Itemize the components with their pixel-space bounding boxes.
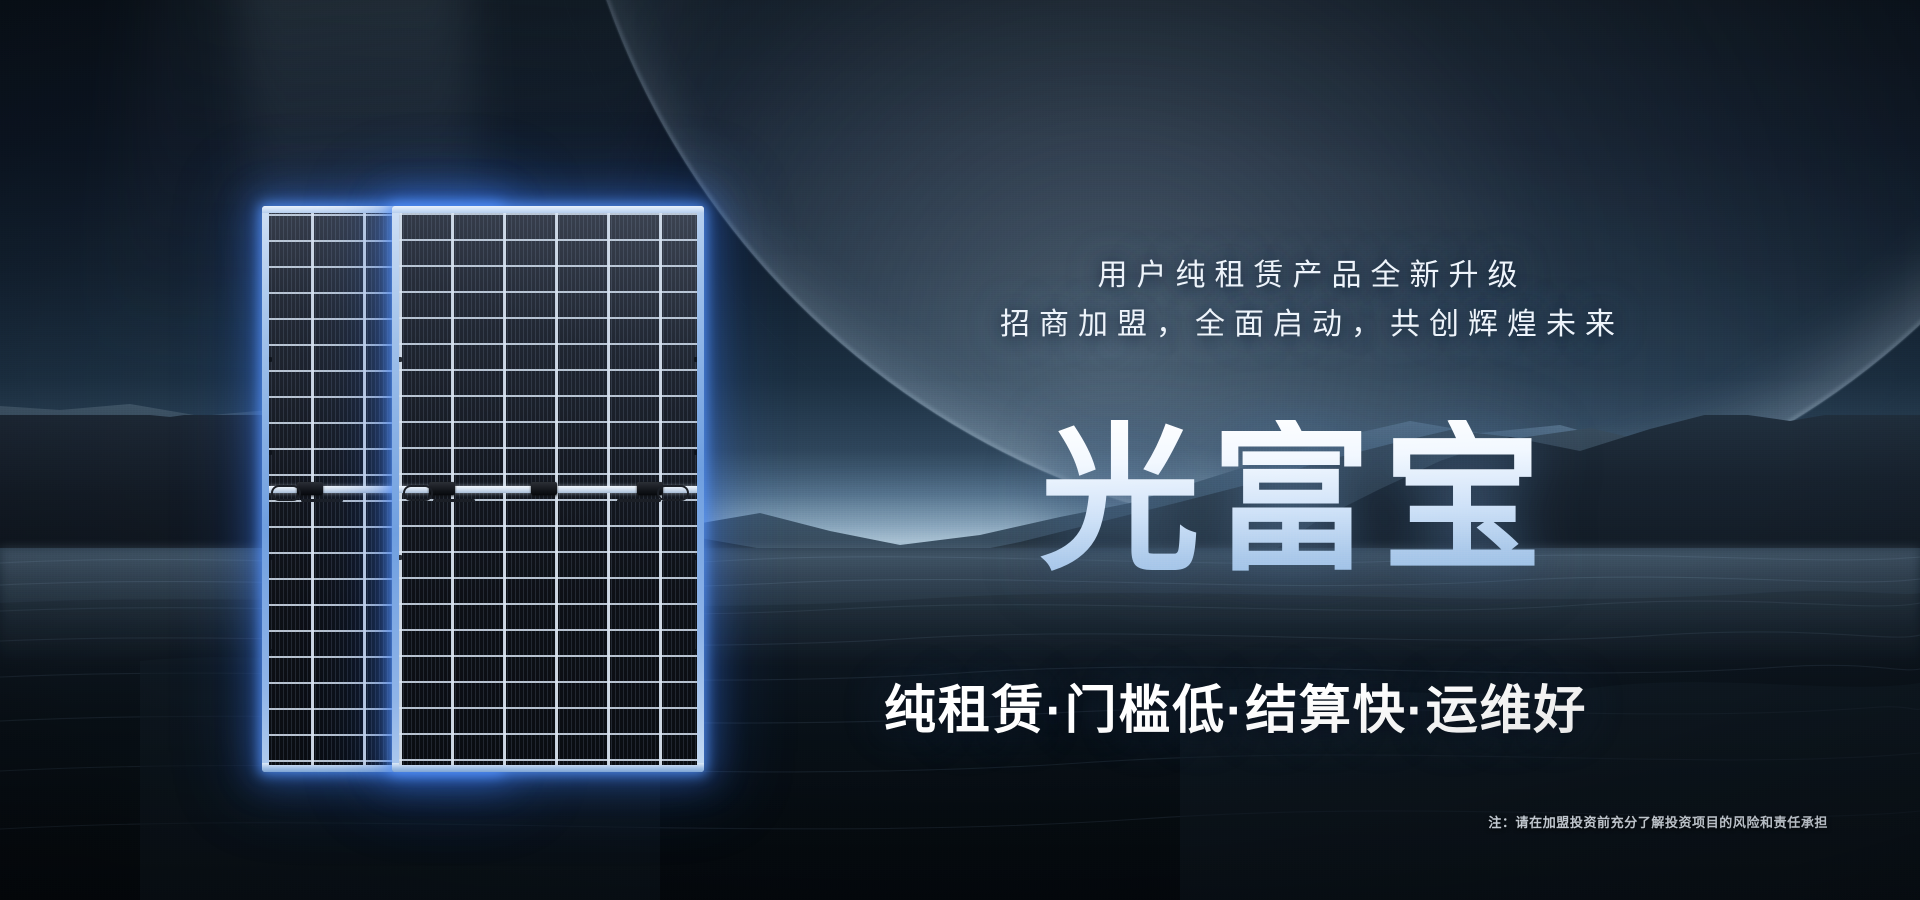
panel-cable-loop <box>403 485 433 501</box>
tagline: 纯租赁·门槛低·结算快·运维好 <box>884 668 1587 743</box>
solar-panel-right[interactable] <box>392 206 704 772</box>
promo-banner: 用户纯租赁产品全新升级 招商加盟，全面启动，共创辉煌未来 光富宝 纯租赁·门槛低… <box>0 0 1920 900</box>
frame-mount-clip <box>694 555 697 560</box>
frame-mount-clip <box>269 450 272 455</box>
panel-cable-loop <box>657 485 689 501</box>
frame-mount-clip <box>399 555 402 560</box>
panel-cable-loop <box>271 485 301 501</box>
frame-mount-clip <box>694 357 697 362</box>
headline-line-2: 招商加盟，全面启动，共创辉煌未来 <box>932 301 1692 350</box>
panel-cable-stub <box>433 499 475 502</box>
panel-frame-top-highlight-right <box>392 206 704 213</box>
brand-title: 光富宝 <box>1040 420 1554 580</box>
frame-mount-clip <box>269 649 272 654</box>
frame-mount-clip <box>269 555 272 560</box>
panel-glass-right <box>399 213 697 765</box>
frame-mount-clip <box>694 450 697 455</box>
frame-mount-clip <box>399 357 402 362</box>
junction-box <box>531 482 557 495</box>
solar-panel-array[interactable] <box>262 206 704 772</box>
frame-mount-clip <box>269 357 272 362</box>
frame-mount-clip <box>694 649 697 654</box>
panel-cable-stub <box>617 499 661 502</box>
headline-line-1: 用户纯租赁产品全新升级 <box>932 252 1692 301</box>
disclaimer-note: 注：请在加盟投资前充分了解投资项目的风险和责任承担 <box>1488 812 1828 831</box>
panel-cable-stub <box>301 499 343 502</box>
headline-block: 用户纯租赁产品全新升级 招商加盟，全面启动，共创辉煌未来 <box>932 252 1692 349</box>
